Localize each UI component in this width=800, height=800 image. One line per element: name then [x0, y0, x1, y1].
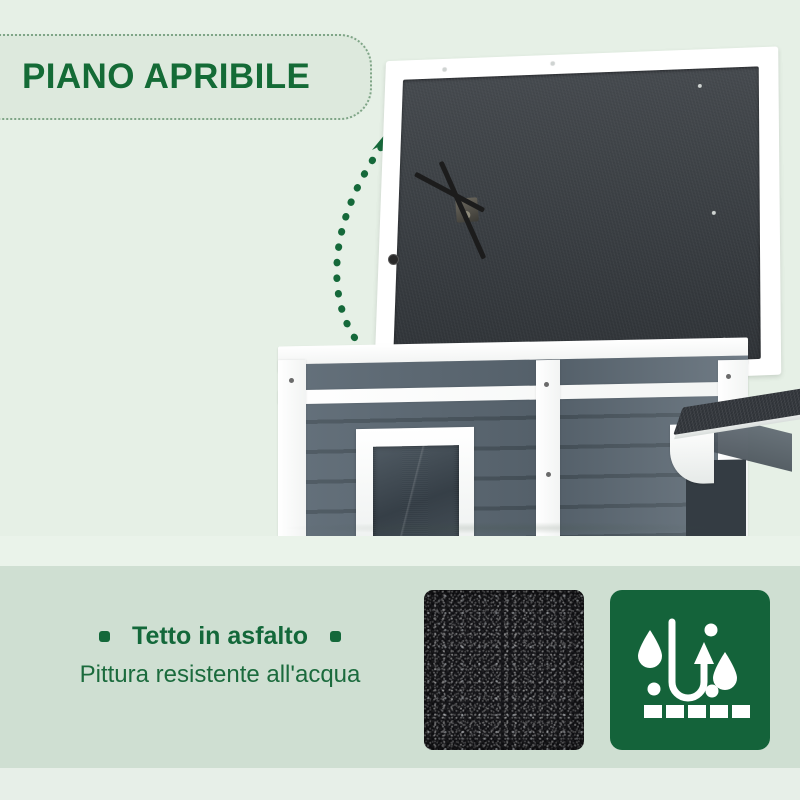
- house-window: [356, 427, 474, 536]
- screw-icon: [726, 374, 731, 379]
- feature-text-block: Tetto in asfalto Pittura resistente all'…: [40, 622, 400, 689]
- roof-asphalt-surface: [393, 66, 761, 373]
- waterproof-icon: [610, 590, 770, 750]
- screw-icon: [443, 68, 447, 72]
- waterproof-icon-tile: [610, 590, 770, 750]
- footer-strip: [0, 768, 800, 800]
- feature-title: Tetto in asfalto: [132, 622, 308, 651]
- feature-subtitle: Pittura resistente all'acqua: [40, 661, 400, 689]
- bullet-dot-right-icon: [330, 631, 341, 642]
- product-shadow: [280, 522, 750, 534]
- screw-icon: [546, 472, 551, 477]
- hero-section: PIANO APRIBILE: [0, 0, 800, 536]
- product-photo: [260, 30, 800, 536]
- feature-title-row: Tetto in asfalto: [40, 622, 400, 651]
- bullet-dot-left-icon: [99, 631, 110, 642]
- infographic-page: PIANO APRIBILE: [0, 0, 800, 800]
- screw-icon: [544, 382, 549, 387]
- strut-pivot-joint: [388, 254, 399, 265]
- screw-icon: [289, 378, 294, 383]
- house-body: [278, 342, 756, 536]
- asphalt-texture-swatch: [424, 590, 584, 750]
- section-divider: [0, 536, 800, 566]
- house-trim-post: [278, 360, 306, 536]
- screw-icon: [551, 62, 555, 66]
